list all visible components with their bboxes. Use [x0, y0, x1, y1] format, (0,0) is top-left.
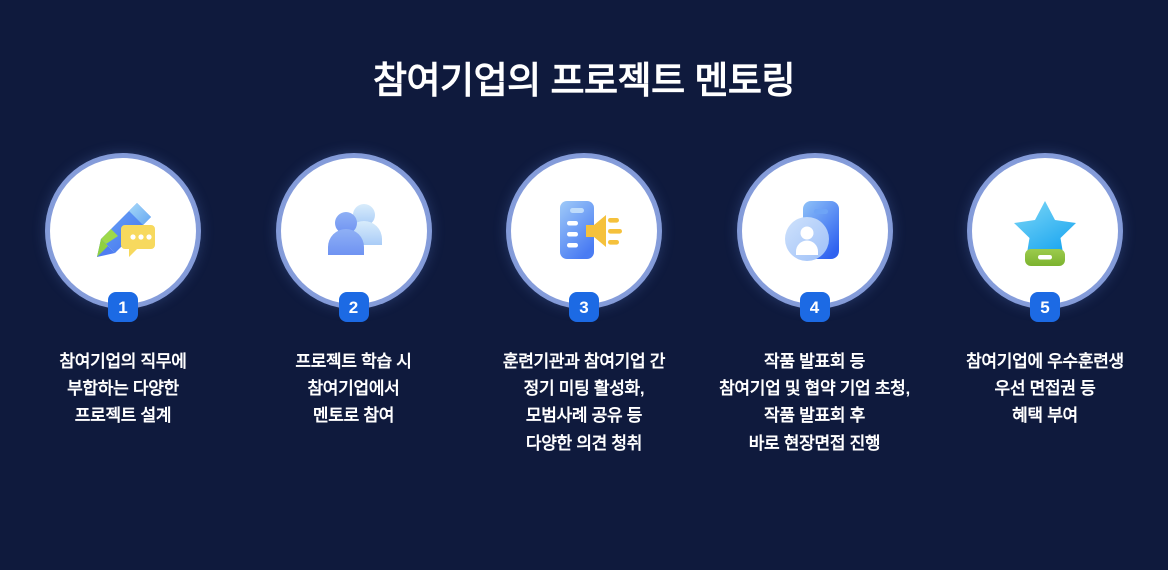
step-2-caption: 프로젝트 학습 시 참여기업에서 멘토로 참여: [295, 348, 411, 430]
step-3-caption: 훈련기관과 참여기업 간 정기 미팅 활성화, 모범사례 공유 등 다양한 의견…: [503, 348, 665, 457]
step-item-4: 4 작품 발표회 등 참여기업 및 협약 기업 초청, 작품 발표회 후 바로 …: [706, 158, 924, 457]
mentoring-infographic: 참여기업의 프로젝트 멘토링: [0, 0, 1168, 570]
clipboard-megaphone-icon: [542, 189, 626, 273]
step-4-caption: 작품 발표회 등 참여기업 및 협약 기업 초청, 작품 발표회 후 바로 현장…: [719, 348, 910, 457]
step-item-2: 2 프로젝트 학습 시 참여기업에서 멘토로 참여: [245, 158, 463, 430]
step-3-number-badge: 3: [569, 292, 599, 322]
steps-row: 1 참여기업의 직무에 부합하는 다양한 프로젝트 설계: [0, 158, 1168, 457]
step-5-number-badge: 5: [1030, 292, 1060, 322]
step-3-circle-wrap: 3: [511, 158, 657, 304]
step-1-caption: 참여기업의 직무에 부합하는 다양한 프로젝트 설계: [59, 348, 186, 430]
star-ticket-icon: [1003, 189, 1087, 273]
step-1-circle: [50, 158, 196, 304]
step-5-circle: [972, 158, 1118, 304]
step-2-circle-wrap: 2: [281, 158, 427, 304]
step-2-circle: [281, 158, 427, 304]
two-people-icon: [312, 189, 396, 273]
step-2-number-badge: 2: [339, 292, 369, 322]
step-item-1: 1 참여기업의 직무에 부합하는 다양한 프로젝트 설계: [14, 158, 232, 430]
step-item-5: 5 참여기업에 우수훈련생 우선 면접권 등 혜택 부여: [936, 158, 1154, 430]
step-5-caption: 참여기업에 우수훈련생 우선 면접권 등 혜택 부여: [966, 348, 1124, 430]
page-title: 참여기업의 프로젝트 멘토링: [0, 58, 1168, 104]
step-1-circle-wrap: 1: [50, 158, 196, 304]
step-3-circle: [511, 158, 657, 304]
step-1-number-badge: 1: [108, 292, 138, 322]
step-4-circle: [742, 158, 888, 304]
step-4-number-badge: 4: [800, 292, 830, 322]
pencil-chat-icon: [81, 189, 165, 273]
step-5-circle-wrap: 5: [972, 158, 1118, 304]
step-4-circle-wrap: 4: [742, 158, 888, 304]
step-item-3: 3 훈련기관과 참여기업 간 정기 미팅 활성화, 모범사례 공유 등 다양한 …: [475, 158, 693, 457]
id-badge-person-icon: [773, 189, 857, 273]
